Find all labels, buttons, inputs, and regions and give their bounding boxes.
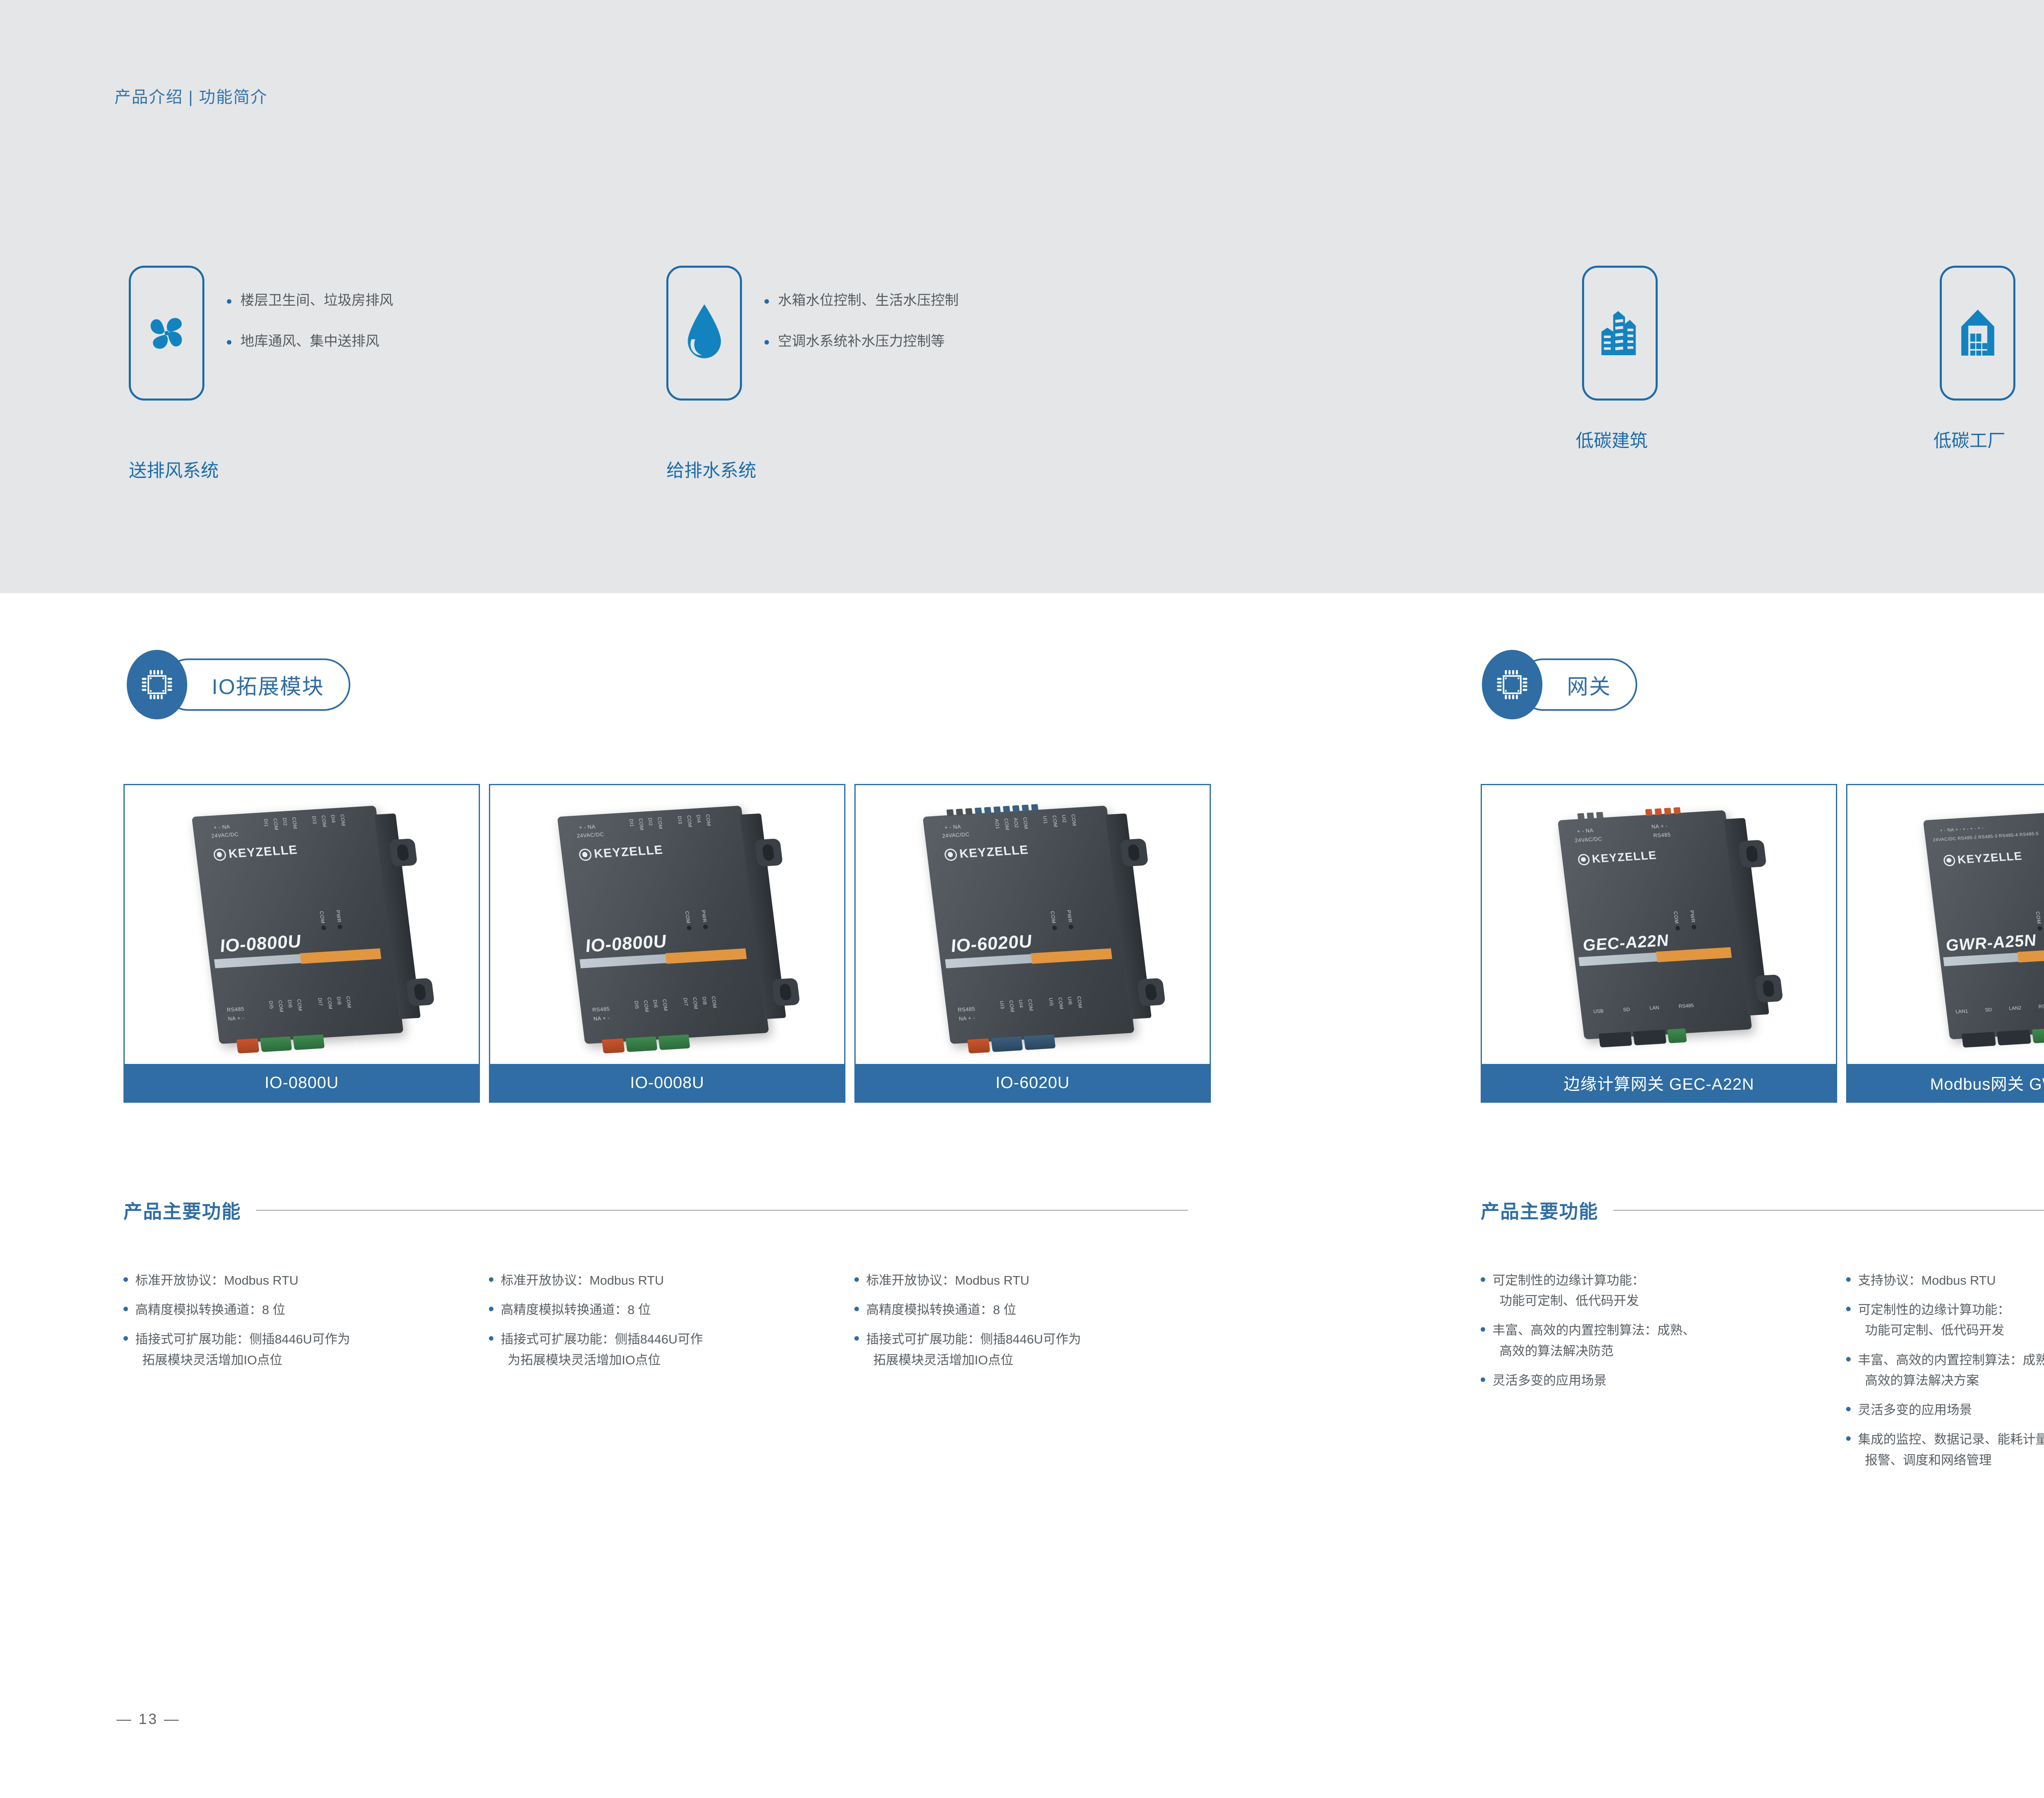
feature-text: 可定制性的边缘计算功能： 功能可定制、低代码开发 xyxy=(1858,1300,2010,1341)
device-top-connectors xyxy=(1577,812,1603,820)
office-building-icon xyxy=(1596,305,1645,362)
bullet-text: 水箱水位控制、生活水压控制 xyxy=(778,293,959,307)
features-heading-label: 产品主要功能 xyxy=(1481,1197,1598,1224)
ventilation-bullet-list: 楼层卫生间、垃圾房排风 地库通风、集中送排风 xyxy=(227,266,393,375)
feature-text: 高精度模拟转换通道：8 位 xyxy=(135,1300,285,1320)
bullet-dot-icon xyxy=(227,340,231,345)
list-item: 地库通风、集中送排风 xyxy=(227,334,393,348)
brand-name: KEYZELLE xyxy=(959,843,1029,861)
product-caption: IO-0008U xyxy=(490,1064,844,1102)
product-photo: + - NA + - + - + - + - 24VAC/DC RS485-2 … xyxy=(1847,785,2044,1064)
device-port-labels: LAN1SD LAN2RS485-1 xyxy=(1955,1003,2044,1014)
device-brand-logo: KEYZELLE xyxy=(578,843,664,862)
device-power-voltage-label: 24VAC/DC xyxy=(1574,836,1602,844)
chip-icon-circle xyxy=(1482,650,1542,719)
list-item: 支持协议：Modbus RTU xyxy=(1846,1270,2044,1291)
device-top-connectors xyxy=(946,804,1038,816)
device-rs485-label: RS485 xyxy=(592,1006,610,1013)
product-caption: IO-0800U xyxy=(125,1064,479,1102)
product-card[interactable]: + - NA + - + - + - + - 24VAC/DC RS485-2 … xyxy=(1846,784,2044,1103)
list-item: 插接式可扩展功能：侧插8446U可作为 拓展模块灵活增加IO点位 xyxy=(854,1329,1214,1370)
device-model-label: IO-6020U xyxy=(950,931,1033,956)
port-label: RS485 xyxy=(1679,1003,1694,1009)
product-card[interactable]: + - NA 24VAC/DC AO1COMAO2COM UI1COMUI2CO… xyxy=(854,784,1211,1103)
device-mount-tab xyxy=(771,978,800,1006)
device-power-voltage-label: 24VAC/DC xyxy=(942,831,970,839)
device-led-group: COM PWR xyxy=(1049,910,1074,930)
features-heading-gateway: 产品主要功能 xyxy=(1481,1197,2044,1224)
port-label: SD xyxy=(1985,1007,1992,1013)
device-brand-logo: KEYZELLE xyxy=(213,843,298,862)
chip-icon-circle xyxy=(127,650,187,719)
product-card[interactable]: + - NA 24VAC/DC DI1COMDI2COM DI3COMDI4CO… xyxy=(489,784,845,1103)
brand-name: KEYZELLE xyxy=(228,843,298,861)
port-label: RS485-1 xyxy=(2038,1003,2044,1010)
product-photo: + - NA 24VAC/DC NA + - RS485 KEYZELLE GE… xyxy=(1482,785,1836,1064)
list-item: 丰富、高效的内置控制算法：成熟、 高效的算法解决防范 xyxy=(1481,1320,1840,1361)
feature-text: 高精度模拟转换通道：8 位 xyxy=(866,1300,1016,1320)
port-label: LAN2 xyxy=(2009,1005,2022,1012)
port-label: LAN1 xyxy=(1955,1008,1968,1015)
device-io-0800u: + - NA 24VAC/DC DI1COMDI2COM DI3COMDI4CO… xyxy=(192,805,412,1044)
bullet-dot-icon xyxy=(1481,1377,1485,1382)
device-top-terminal-labels-2: UI1COMUI2COM xyxy=(1042,814,1078,828)
list-item: 高精度模拟转换通道：8 位 xyxy=(854,1300,1214,1320)
product-photo: + - NA 24VAC/DC AO1COMAO2COM UI1COMUI2CO… xyxy=(856,785,1210,1064)
brand-name: KEYZELLE xyxy=(1591,849,1657,865)
bullet-dot-icon xyxy=(854,1336,859,1341)
left-page-number: — 13 — xyxy=(117,1711,180,1728)
device-power-voltage-label: 24VAC/DC xyxy=(211,831,239,839)
section-title-pill: IO拓展模块 xyxy=(162,658,350,711)
device-rs485-label-top: RS485 xyxy=(1653,831,1671,838)
device-mount-tab xyxy=(389,838,417,867)
device-stripe-orange xyxy=(300,948,381,964)
bullet-dot-icon xyxy=(764,299,769,304)
device-mount-tab xyxy=(1120,838,1148,867)
scenario-caption: 低碳工厂 xyxy=(1932,426,2007,452)
device-stripe-orange xyxy=(666,948,747,964)
device-brand-logo: KEYZELLE xyxy=(944,843,1029,862)
device-rs485-label: RS485 xyxy=(226,1006,244,1013)
scenario-block-building: 低碳建筑 xyxy=(1582,266,1658,452)
list-item: 可定制性的边缘计算功能： 功能可定制、低代码开发 xyxy=(1481,1270,1840,1311)
device-terminal-blocks xyxy=(236,1034,325,1054)
feature-column-io-3: 标准开放协议：Modbus RTU 高精度模拟转换通道：8 位 插接式可扩展功能… xyxy=(854,1270,1214,1379)
device-bottom-terminal-labels-2: DI7COMDI8COM xyxy=(317,996,352,1010)
bullet-dot-icon xyxy=(123,1336,128,1341)
ventilation-caption: 送排风系统 xyxy=(129,456,219,482)
section-title-label: IO拓展模块 xyxy=(212,669,324,700)
list-item: 标准开放协议：Modbus RTU xyxy=(123,1270,483,1291)
application-block-ventilation: 楼层卫生间、垃圾房排风 地库通风、集中送排风 xyxy=(129,266,393,401)
port-label: LAN xyxy=(1649,1005,1659,1011)
left-page-header: 产品介绍 | 功能简介 xyxy=(114,84,268,107)
bullet-dot-icon xyxy=(1846,1407,1851,1411)
features-heading-label: 产品主要功能 xyxy=(123,1197,241,1224)
bullet-dot-icon xyxy=(1846,1307,1851,1311)
feature-text: 插接式可扩展功能：侧插8446U可作为 拓展模块灵活增加IO点位 xyxy=(866,1329,1081,1370)
device-led-group: COM PWR xyxy=(318,910,343,930)
feature-text: 插接式可扩展功能：侧插8446U可作 为拓展模块灵活增加IO点位 xyxy=(501,1329,703,1370)
device-io-0008u: + - NA 24VAC/DC DI1COMDI2COM DI3COMDI4CO… xyxy=(557,805,777,1044)
device-gwr-a25n: + - NA + - + - + - + - 24VAC/DC RS485-2 … xyxy=(1923,810,2044,1039)
feature-column-gw-1: 可定制性的边缘计算功能： 功能可定制、低代码开发 丰富、高效的内置控制算法：成熟… xyxy=(1481,1270,1840,1400)
device-bottom-terminal-labels: UI3COMUI4COM xyxy=(999,999,1034,1013)
list-item: 标准开放协议：Modbus RTU xyxy=(854,1270,1214,1291)
list-item: 丰富、高效的内置控制算法：成熟、 高效的算法解决方案 xyxy=(1846,1350,2044,1391)
factory-icon-frame xyxy=(1940,266,2015,401)
device-model-label: IO-0800U xyxy=(219,931,303,956)
list-item: 集成的监控、数据记录、能耗计量、 报警、调度和网络管理 xyxy=(1846,1429,2044,1470)
device-led-group: COM PWR xyxy=(2035,910,2044,931)
heading-rule xyxy=(1613,1210,2044,1211)
device-mount-tab xyxy=(1137,978,1165,1006)
feature-column-gw-2: 支持协议：Modbus RTU 可定制性的边缘计算功能： 功能可定制、低代码开发… xyxy=(1846,1270,2044,1480)
list-item: 灵活多变的应用场景 xyxy=(1481,1370,1840,1391)
feature-text: 标准开放协议：Modbus RTU xyxy=(501,1270,664,1291)
scenario-caption: 低碳建筑 xyxy=(1574,426,1650,452)
feature-text: 可定制性的边缘计算功能： 功能可定制、低代码开发 xyxy=(1493,1270,1645,1311)
device-power-voltage-label: 24VAC/DC xyxy=(576,831,604,839)
device-top-terminal-labels: DI1COMDI2COM xyxy=(263,817,298,831)
device-rs485-pins: NA + - xyxy=(593,1015,610,1022)
brand-mark-icon xyxy=(944,848,958,861)
device-model-label: IO-0800U xyxy=(584,931,668,956)
device-stripe-silver xyxy=(1943,953,2021,966)
port-label: USB xyxy=(1593,1008,1604,1014)
device-mount-tab xyxy=(754,838,783,867)
device-io-6020u: + - NA 24VAC/DC AO1COMAO2COM UI1COMUI2CO… xyxy=(923,805,1143,1044)
feature-text: 支持协议：Modbus RTU xyxy=(1858,1270,1996,1291)
feature-text: 丰富、高效的内置控制算法：成熟、 高效的算法解决防范 xyxy=(1493,1320,1695,1361)
bullet-dot-icon xyxy=(1481,1327,1485,1332)
product-photo: + - NA 24VAC/DC DI1COMDI2COM DI3COMDI4CO… xyxy=(490,785,844,1064)
device-power-voltage-label: 24VAC/DC RS485-2 RS485-3 RS485-4 RS485-5 xyxy=(1932,831,2039,843)
fan-icon xyxy=(140,307,193,360)
device-top-terminal-labels: DI1COMDI2COM xyxy=(628,817,664,831)
list-item: 灵活多变的应用场景 xyxy=(1846,1400,2044,1420)
list-item: 插接式可扩展功能：侧插8446U可作 为拓展模块灵活增加IO点位 xyxy=(489,1329,849,1370)
bullet-dot-icon xyxy=(489,1336,493,1341)
feature-text: 灵活多变的应用场景 xyxy=(1493,1370,1607,1391)
bullet-text: 地库通风、集中送排风 xyxy=(240,334,379,348)
features-heading-io: 产品主要功能 xyxy=(123,1197,1211,1224)
chip-icon xyxy=(1495,668,1529,701)
fan-icon-frame xyxy=(129,266,204,401)
product-card[interactable]: + - NA 24VAC/DC NA + - RS485 KEYZELLE GE… xyxy=(1481,784,1837,1103)
list-item: 插接式可扩展功能：侧插8446U可作为 拓展模块灵活增加IO点位 xyxy=(123,1329,483,1370)
bullet-dot-icon xyxy=(227,299,231,304)
feature-text: 标准开放协议：Modbus RTU xyxy=(866,1270,1029,1291)
device-mount-tab xyxy=(1738,840,1767,868)
device-gec-a22n: + - NA 24VAC/DC NA + - RS485 KEYZELLE GE… xyxy=(1558,810,1760,1039)
office-building-icon-frame xyxy=(1582,266,1658,401)
bullet-dot-icon xyxy=(123,1307,128,1311)
device-power-label: + - NA xyxy=(213,824,231,831)
bullet-dot-icon xyxy=(854,1277,859,1282)
application-block-water: 水箱水位控制、生活水压控制 空调水系统补水压力控制等 xyxy=(666,266,959,401)
feature-text: 集成的监控、数据记录、能耗计量、 报警、调度和网络管理 xyxy=(1858,1429,2044,1470)
device-top-terminal-labels: AO1COMAO2COM xyxy=(994,817,1029,831)
device-brand-logo: KEYZELLE xyxy=(1943,849,2023,867)
device-led-group: COM PWR xyxy=(684,910,708,930)
feature-text: 灵活多变的应用场景 xyxy=(1858,1400,1972,1420)
device-top-terminal-labels-2: DI3COMDI4COM xyxy=(311,814,347,828)
device-top-terminal-labels-2: DI3COMDI4COM xyxy=(677,814,712,828)
feature-column-io-2: 标准开放协议：Modbus RTU 高精度模拟转换通道：8 位 插接式可扩展功能… xyxy=(489,1270,849,1379)
water-bullet-list: 水箱水位控制、生活水压控制 空调水系统补水压力控制等 xyxy=(764,266,959,375)
brand-mark-icon xyxy=(1578,853,1590,866)
bullet-dot-icon xyxy=(123,1277,128,1282)
brand-name: KEYZELLE xyxy=(593,843,664,861)
bullet-dot-icon xyxy=(1846,1436,1851,1441)
brand-mark-icon xyxy=(213,848,227,861)
brand-name: KEYZELLE xyxy=(1957,849,2023,866)
device-top-terminals xyxy=(1645,807,1681,816)
device-mount-tab xyxy=(406,978,435,1006)
product-photo: + - NA 24VAC/DC DI1COMDI2COM DI3COMDI4CO… xyxy=(125,785,479,1064)
device-power-label: + - NA xyxy=(579,824,596,831)
product-caption: IO-6020U xyxy=(856,1064,1210,1102)
bullet-dot-icon xyxy=(854,1307,859,1311)
device-rs485-pins: NA + - xyxy=(959,1015,975,1022)
feature-column-io-1: 标准开放协议：Modbus RTU 高精度模拟转换通道：8 位 插接式可扩展功能… xyxy=(123,1270,483,1379)
device-bottom-terminal-labels-2: DI7COMDI8COM xyxy=(682,996,718,1010)
scenario-block-factory: 低碳工厂 xyxy=(1940,266,2015,452)
device-bottom-terminal-labels: DI5COMDI6COM xyxy=(268,999,303,1013)
bullet-dot-icon xyxy=(1846,1277,1851,1282)
heading-rule xyxy=(256,1210,1188,1211)
port-label: SD xyxy=(1623,1006,1630,1012)
bullet-dot-icon xyxy=(489,1277,493,1282)
feature-text: 标准开放协议：Modbus RTU xyxy=(135,1270,298,1291)
water-drop-icon-frame xyxy=(666,266,742,401)
list-item: 高精度模拟转换通道：8 位 xyxy=(123,1300,483,1320)
factory-icon xyxy=(1955,305,2000,362)
feature-text: 插接式可扩展功能：侧插8446U可作为 拓展模块灵活增加IO点位 xyxy=(135,1329,350,1370)
device-port-labels: USBSD LANRS485 xyxy=(1593,1003,1694,1014)
product-card[interactable]: + - NA 24VAC/DC DI1COMDI2COM DI3COMDI4CO… xyxy=(123,784,480,1103)
bullet-text: 空调水系统补水压力控制等 xyxy=(778,334,945,348)
product-caption: 边缘计算网关 GEC-A22N xyxy=(1482,1064,1836,1102)
bullet-dot-icon xyxy=(1846,1357,1851,1361)
bullet-dot-icon xyxy=(764,340,769,345)
device-power-label: + - NA xyxy=(1577,827,1594,834)
section-title-label: 网关 xyxy=(1567,669,1611,700)
device-bottom-terminal-labels-2: UI5COMUI6COM xyxy=(1048,996,1083,1010)
bullet-text: 楼层卫生间、垃圾房排风 xyxy=(240,293,393,307)
list-item: 空调水系统补水压力控制等 xyxy=(764,334,959,348)
feature-text: 高精度模拟转换通道：8 位 xyxy=(501,1300,651,1320)
device-terminal-blocks xyxy=(967,1034,1056,1054)
device-led-group: COM PWR xyxy=(1672,910,1697,931)
product-caption: Modbus网关 GWR-A25N xyxy=(1847,1064,2044,1102)
device-terminal-blocks xyxy=(1598,1028,1687,1048)
device-mount-tab xyxy=(1755,974,1783,1003)
list-item: 高精度模拟转换通道：8 位 xyxy=(489,1300,849,1320)
device-power-label: + - NA + - + - + - + - xyxy=(1940,826,1984,833)
chip-icon xyxy=(140,668,174,701)
device-terminal-blocks xyxy=(1961,1028,2044,1048)
device-rs485-pins-top: NA + - xyxy=(1651,823,1668,830)
device-terminal-blocks xyxy=(602,1034,690,1054)
device-stripe-orange xyxy=(1031,948,1112,964)
bullet-dot-icon xyxy=(489,1307,493,1311)
device-power-label: + - NA xyxy=(944,824,961,831)
list-item: 水箱水位控制、生活水压控制 xyxy=(764,293,959,307)
device-bottom-terminal-labels: DI5COMDI6COM xyxy=(633,999,669,1013)
device-brand-logo: KEYZELLE xyxy=(1577,849,1657,867)
section-badge-io-modules: IO拓展模块 xyxy=(127,650,350,719)
bullet-dot-icon xyxy=(1481,1277,1485,1282)
list-item: 标准开放协议：Modbus RTU xyxy=(489,1270,849,1291)
device-rs485-label: RS485 xyxy=(957,1006,975,1013)
device-rs485-pins: NA + - xyxy=(228,1015,244,1022)
feature-text: 丰富、高效的内置控制算法：成熟、 高效的算法解决方案 xyxy=(1858,1350,2044,1391)
brand-mark-icon xyxy=(578,848,592,861)
water-caption: 给排水系统 xyxy=(666,456,756,482)
list-item: 楼层卫生间、垃圾房排风 xyxy=(227,293,393,307)
section-badge-gateway: 网关 xyxy=(1482,650,1637,719)
brand-mark-icon xyxy=(1943,854,1956,867)
list-item: 可定制性的边缘计算功能： 功能可定制、低代码开发 xyxy=(1846,1300,2044,1341)
water-drop-icon xyxy=(681,302,727,364)
